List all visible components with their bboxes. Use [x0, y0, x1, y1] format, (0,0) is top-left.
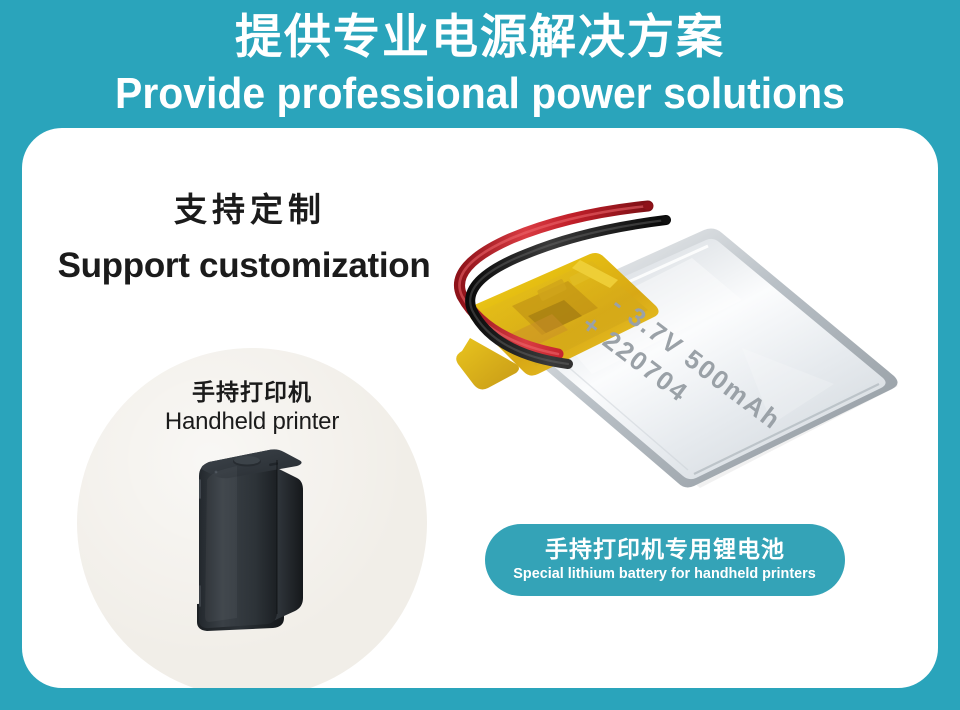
page-header: 提供专业电源解决方案 Provide professional power so…	[0, 0, 960, 128]
printer-label-english: Handheld printer	[132, 408, 372, 436]
handheld-printer-icon	[185, 446, 311, 636]
badge-text-english: Special lithium battery for handheld pri…	[514, 564, 816, 584]
header-title-english: Provide professional power solutions	[34, 68, 927, 120]
badge-text-chinese: 手持打印机专用锂电池	[545, 536, 785, 564]
lipo-battery-icon: - 3.7V 500mAh + 220704	[442, 188, 922, 528]
status-badge: 手持打印机专用锂电池 Special lithium battery for h…	[485, 524, 845, 596]
content-card: 支持定制 Support customization 手持打印机 Handhel…	[22, 128, 938, 688]
support-heading-chinese: 支持定制	[40, 183, 460, 231]
printer-label-chinese: 手持打印机	[132, 373, 372, 407]
header-title-chinese: 提供专业电源解决方案	[0, 9, 960, 67]
support-heading-english: Support customization	[22, 246, 466, 286]
